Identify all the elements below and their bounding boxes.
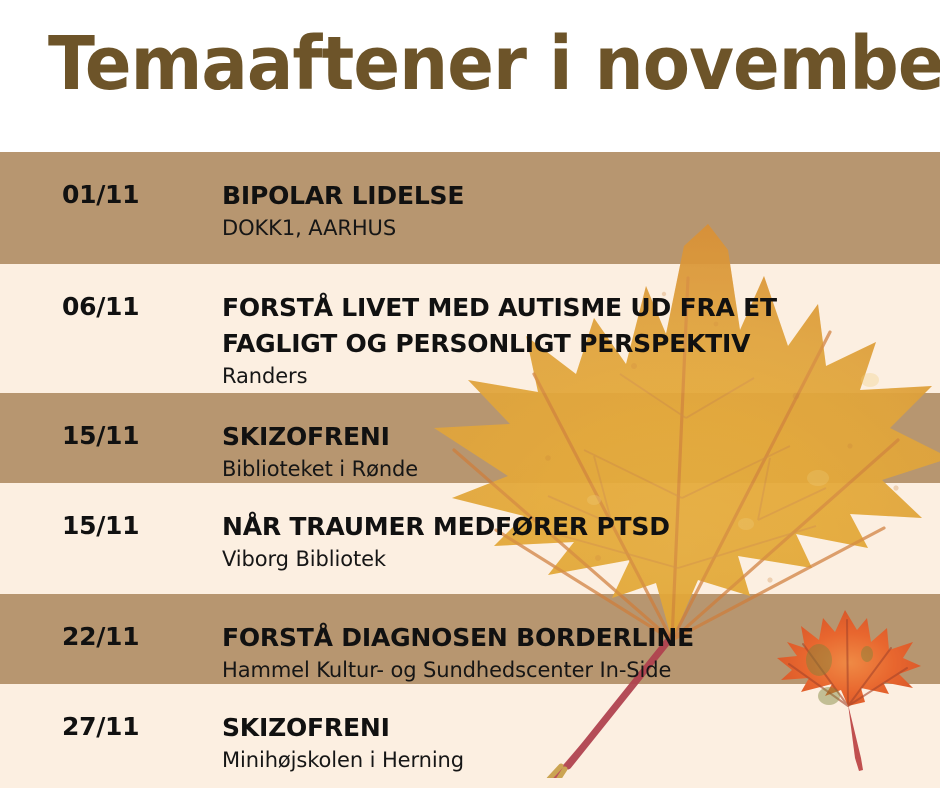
- event-title: FORSTÅ DIAGNOSEN BORDERLINE: [222, 620, 922, 656]
- event-date: 27/11: [62, 712, 139, 741]
- event-venue: DOKK1, AARHUS: [222, 216, 396, 240]
- poster-canvas: Temaaftener i november 01/11BIPOLAR LIDE…: [0, 0, 940, 788]
- event-venue: Randers: [222, 364, 307, 388]
- event-date: 15/11: [62, 511, 139, 540]
- event-venue: Biblioteket i Rønde: [222, 457, 418, 481]
- event-venue: Minihøjskolen i Herning: [222, 748, 464, 772]
- event-venue: Viborg Bibliotek: [222, 547, 386, 571]
- title-band: Temaaftener i november: [0, 0, 940, 152]
- event-date: 06/11: [62, 292, 139, 321]
- event-title: NÅR TRAUMER MEDFØRER PTSD: [222, 509, 922, 545]
- event-date: 15/11: [62, 421, 139, 450]
- event-title: SKIZOFRENI: [222, 419, 922, 455]
- event-venue: Hammel Kultur- og Sundhedscenter In-Side: [222, 658, 671, 682]
- event-date: 22/11: [62, 622, 139, 651]
- event-date: 01/11: [62, 180, 139, 209]
- event-title: FORSTÅ LIVET MED AUTISME UD FRA ET FAGLI…: [222, 290, 922, 362]
- event-title: SKIZOFRENI: [222, 710, 922, 746]
- page-title: Temaaftener i november: [48, 27, 940, 101]
- event-title: BIPOLAR LIDELSE: [222, 178, 922, 214]
